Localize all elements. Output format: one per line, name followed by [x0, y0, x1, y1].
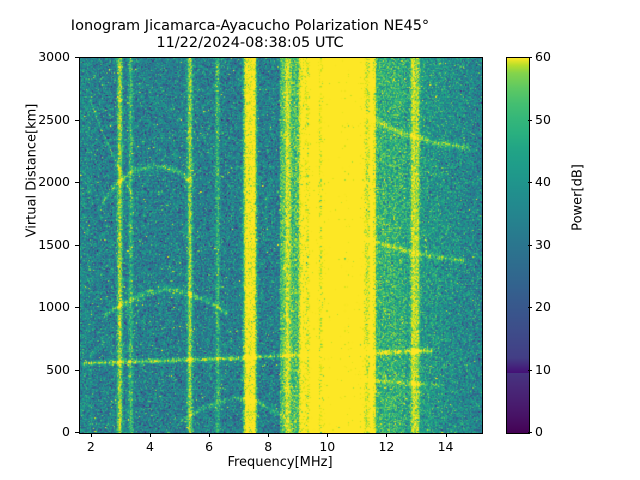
colorbar-gradient — [507, 58, 529, 433]
x-tick-mark — [268, 433, 269, 437]
title-line-1: Ionogram Jicamarca-Ayacucho Polarization… — [0, 18, 500, 35]
y-tick-label: 500 — [46, 362, 70, 377]
x-tick-label: 14 — [426, 439, 466, 454]
colorbar-tick-label: 0 — [535, 424, 543, 439]
colorbar-tick-mark — [528, 120, 532, 121]
y-tick-label: 1000 — [38, 299, 70, 314]
x-tick-label: 10 — [307, 439, 347, 454]
x-tick-mark — [91, 433, 92, 437]
title-line-2: 11/22/2024-08:38:05 UTC — [0, 35, 500, 52]
x-axis-label: Frequency[MHz] — [79, 455, 481, 470]
ionogram-heatmap-canvas — [80, 58, 482, 433]
y-tick-mark — [75, 182, 79, 183]
x-tick-label: 6 — [189, 439, 229, 454]
y-tick-label: 2000 — [38, 174, 70, 189]
ionogram-figure: Ionogram Jicamarca-Ayacucho Polarization… — [0, 0, 640, 480]
x-tick-label: 12 — [366, 439, 406, 454]
x-tick-label: 2 — [71, 439, 111, 454]
colorbar-tick-label: 30 — [535, 237, 551, 252]
colorbar-tick-mark — [528, 370, 532, 371]
colorbar-tick-label: 10 — [535, 362, 551, 377]
y-tick-label: 1500 — [38, 237, 70, 252]
colorbar-tick-mark — [528, 432, 532, 433]
colorbar-tick-label: 60 — [535, 49, 551, 64]
colorbar-tick-mark — [528, 57, 532, 58]
y-tick-label: 2500 — [38, 112, 70, 127]
y-tick-mark — [75, 57, 79, 58]
x-tick-label: 4 — [130, 439, 170, 454]
y-tick-label: 3000 — [38, 49, 70, 64]
y-tick-label: 0 — [62, 424, 70, 439]
colorbar-tick-mark — [528, 182, 532, 183]
y-tick-mark — [75, 120, 79, 121]
x-tick-mark — [446, 433, 447, 437]
figure-title: Ionogram Jicamarca-Ayacucho Polarization… — [0, 18, 500, 52]
x-tick-mark — [209, 433, 210, 437]
colorbar — [506, 57, 530, 434]
x-tick-mark — [327, 433, 328, 437]
colorbar-tick-mark — [528, 245, 532, 246]
colorbar-tick-label: 50 — [535, 112, 551, 127]
y-tick-mark — [75, 307, 79, 308]
colorbar-label: Power[dB] — [571, 68, 586, 328]
y-tick-mark — [75, 245, 79, 246]
x-tick-mark — [386, 433, 387, 437]
ionogram-plot-area — [79, 57, 483, 434]
y-axis-label: Virtual Distance[km] — [25, 31, 40, 311]
colorbar-tick-label: 20 — [535, 299, 551, 314]
x-tick-label: 8 — [248, 439, 288, 454]
colorbar-tick-mark — [528, 307, 532, 308]
y-tick-mark — [75, 370, 79, 371]
colorbar-tick-label: 40 — [535, 174, 551, 189]
x-tick-mark — [150, 433, 151, 437]
y-tick-mark — [75, 432, 79, 433]
